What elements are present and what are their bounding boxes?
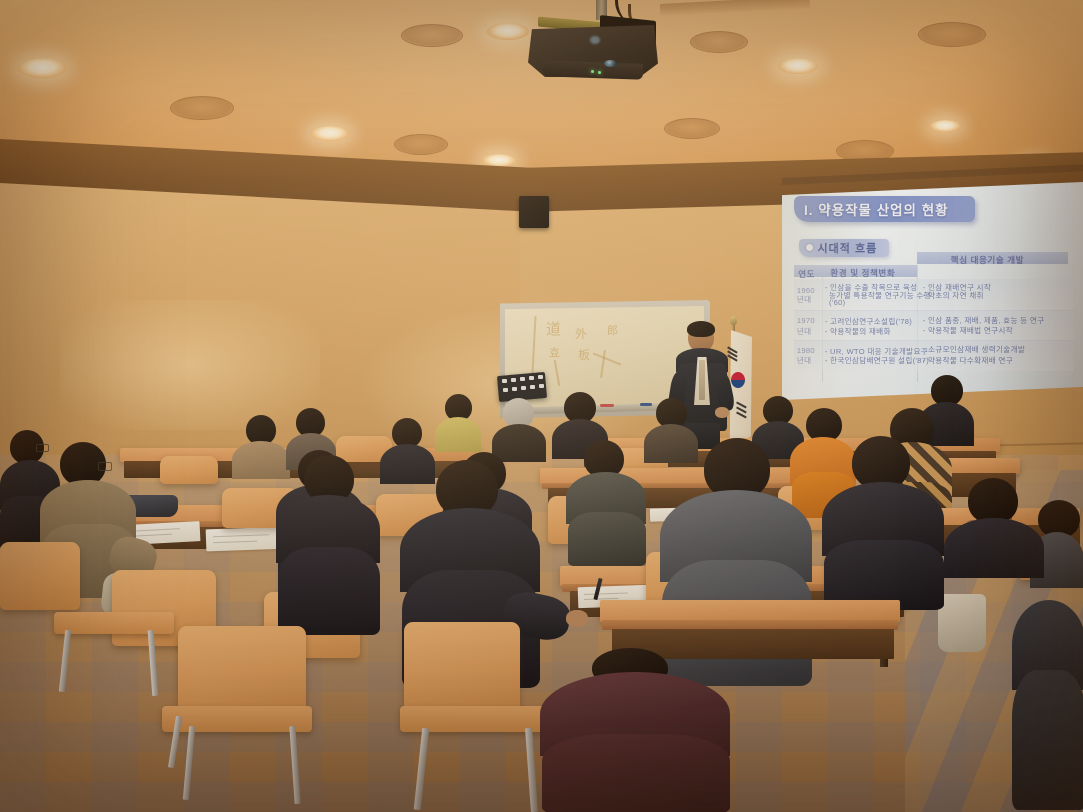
- slide-cell-year: 년대: [797, 326, 812, 337]
- slide-table: 연도 환경 및 정책변화 핵심 대응기술 개발 1960 년대 - 인삼을 수출…: [794, 263, 1074, 385]
- whiteboard-writing: 板: [578, 346, 590, 363]
- slide-table-header-tech: 핵심 대응기술 개발: [951, 254, 1024, 266]
- slide-cell-tech: - 약용작물 재배법 연구시작: [923, 325, 1013, 336]
- projector-highlight: [590, 36, 600, 44]
- stand-perforation: [503, 388, 508, 392]
- ceiling-downlight-off: [401, 24, 463, 47]
- whiteboard-writing: 外: [575, 325, 587, 342]
- slide-title-banner: I. 약용작물 산업의 현황: [794, 196, 975, 222]
- ceiling-downlight-on: [311, 126, 349, 141]
- slide-cell-policy: - 한국인삼담배연구원 설립('87): [825, 355, 929, 366]
- ceiling-downlight-on: [930, 120, 960, 132]
- person-hand: [566, 610, 588, 627]
- stand-perforation: [502, 379, 507, 383]
- lecture-chair: [0, 542, 80, 610]
- presentation-slide: I. 약용작물 산업의 현황 시대적 흐름 연도 환경 및 정책변화 핵심 대응…: [782, 182, 1083, 400]
- audience-member: [276, 455, 386, 635]
- wall-speaker: [519, 196, 549, 228]
- person-shoulders: [435, 417, 481, 452]
- lecture-desk: [600, 600, 900, 622]
- audience-member: [822, 436, 952, 606]
- slide-cell-tech: - 소규모인삼재배 생력기술개발: [923, 344, 1025, 355]
- slide-subtitle-pill: 시대적 흐름: [799, 239, 889, 258]
- lecture-chair: [404, 622, 520, 712]
- whiteboard-writing: 효: [549, 344, 560, 361]
- chair-backrest: [0, 542, 80, 610]
- person-torso: [278, 547, 380, 635]
- slide-title-text: I. 약용작물 산업의 현황: [804, 199, 949, 219]
- lecture-hall-photo: I. 약용작물 산업의 현황 시대적 흐름 연도 환경 및 정책변화 핵심 대응…: [0, 0, 1083, 812]
- slide-table-header-policy: 환경 및 정책변화: [830, 267, 895, 279]
- slide-cell-tech: - 약용작물 다수확재배 연구: [923, 355, 1013, 366]
- projection-screen: I. 약용작물 산업의 현황 시대적 흐름 연도 환경 및 정책변화 핵심 대응…: [782, 182, 1083, 400]
- stand-perforation: [521, 386, 526, 390]
- whiteboard-writing: 郎: [607, 322, 618, 338]
- presenter-hand-right: [715, 407, 729, 418]
- slide-cell-year: 년대: [797, 294, 812, 305]
- projector-status-led: [598, 71, 601, 74]
- audience-member: [566, 440, 652, 564]
- handout-line: [213, 541, 257, 544]
- ceiling-downlight-on: [487, 23, 529, 40]
- slide-cell-year: 년대: [797, 355, 812, 366]
- lecture-chair-empty: [178, 626, 306, 718]
- slide-cell-year: 1970: [797, 316, 815, 325]
- person-shoulders: [944, 518, 1044, 578]
- audience-member-foreground: [1012, 600, 1083, 812]
- slide-cell-policy: ('60): [829, 298, 845, 307]
- slide-cell-year: 1980: [797, 346, 815, 355]
- presenter-hair: [687, 321, 715, 337]
- chair-seat: [54, 612, 174, 634]
- chair-backrest: [404, 622, 520, 712]
- chair-backrest: [160, 456, 218, 484]
- handout-line: [584, 592, 628, 595]
- audience-member: [492, 398, 548, 460]
- projector-lens: [604, 60, 617, 67]
- ceiling-downlight-on: [18, 58, 66, 78]
- projector-status-led: [591, 70, 594, 73]
- wall-light-pool: [60, 300, 320, 430]
- slide-subtitle-text: 시대적 흐름: [818, 240, 878, 256]
- lecture-chair: [160, 456, 218, 484]
- ceiling-downlight-off: [690, 31, 748, 53]
- ceiling-downlight-off: [664, 118, 720, 139]
- slide-cell-tech: - 인삼 품종, 재배, 제품, 효능 등 연구: [923, 315, 1045, 326]
- stand-perforation: [511, 378, 516, 382]
- ceiling-downlight-off: [918, 22, 986, 47]
- whiteboard-writing: 道: [546, 318, 561, 339]
- slide-cell-tech: - 약초의 자연 채취: [923, 290, 984, 301]
- stand-perforation: [512, 387, 517, 391]
- person-torso: [1012, 670, 1083, 810]
- handout-line: [213, 534, 269, 537]
- audience-member-foreground: [540, 648, 740, 812]
- desk-surface: [600, 600, 900, 622]
- person-torso: [542, 734, 730, 812]
- audience-member: [435, 394, 483, 452]
- chair-backrest: [178, 626, 306, 718]
- stand-perforation: [529, 376, 534, 380]
- presenter-tie: [699, 360, 705, 400]
- eyeglasses-icon: [98, 462, 112, 471]
- slide-cell-policy: - 약용작물의 재배화: [825, 326, 891, 337]
- ceiling-downlight-off: [394, 134, 448, 155]
- stand-perforation: [530, 385, 535, 389]
- person-torso: [568, 512, 646, 566]
- ceiling-downlight-off: [170, 96, 234, 120]
- stand-perforation: [520, 377, 525, 381]
- audience-member: [944, 478, 1054, 608]
- bullet-icon: [806, 244, 813, 251]
- stand-perforation: [539, 384, 544, 388]
- ceiling-downlight-on: [778, 58, 818, 74]
- stand-perforation: [538, 375, 543, 379]
